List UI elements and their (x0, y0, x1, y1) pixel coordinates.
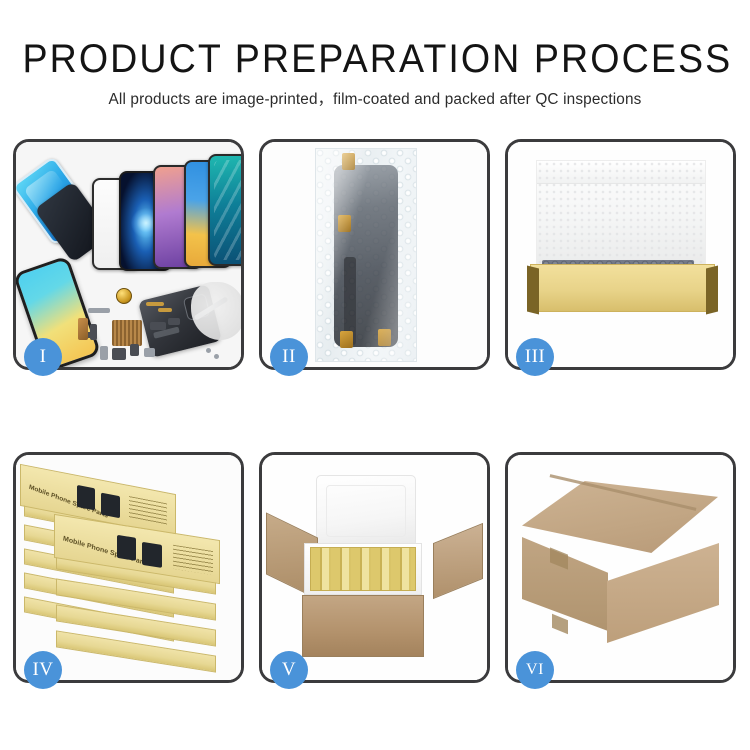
scene-bubble-wrap (262, 142, 487, 367)
panel-badge-4: IV (24, 651, 62, 689)
panel-carton-packing: V (259, 452, 490, 683)
box-label-screen-img-back-2 (101, 493, 120, 519)
carton-tape-lower (552, 614, 568, 634)
box-label-spec-lines-back (129, 496, 167, 525)
panel-bubble-wrap: II (259, 139, 490, 370)
spare-part-sim-tray (144, 348, 155, 357)
scene-box-stack: Mobile Phone Spare Parts Mobile Phone Sp… (16, 455, 241, 680)
panel-image-carton-packing (262, 455, 487, 680)
spare-part-connector-4 (168, 318, 180, 325)
flex-connector-tab-mid (338, 215, 351, 232)
box-label-screen-img-front-2 (142, 542, 162, 568)
spare-part-camera (100, 346, 108, 360)
spare-part-screw-1 (206, 348, 211, 353)
spare-part-button (130, 344, 139, 356)
scene-carton-packing (262, 455, 487, 680)
spare-part-flex-cable (78, 318, 88, 340)
carton-front-panel (302, 595, 424, 657)
kraft-box-open (530, 264, 715, 312)
panel-image-foam-box (508, 142, 733, 367)
panel-image-product-overview (16, 142, 241, 367)
scene-product-overview (16, 142, 241, 367)
spare-part-speaker (112, 348, 126, 360)
panel-badge-3: III (516, 338, 554, 376)
header: PRODUCT PREPARATION PROCESS All products… (0, 36, 750, 111)
product-preparation-infographic: PRODUCT PREPARATION PROCESS All products… (0, 0, 750, 750)
spare-part-screw-2 (214, 354, 219, 359)
vibration-motor-part (116, 288, 132, 304)
panel-box-stack: Mobile Phone Spare Parts Mobile Phone Sp… (13, 452, 244, 683)
panel-sealed-carton: VI (505, 452, 736, 683)
spare-part-strip-1 (88, 308, 110, 313)
flex-connector-tab-bottom-left (340, 331, 353, 348)
flex-connector-tab-top (342, 153, 355, 170)
flex-connector-tab-bottom-right (378, 329, 391, 346)
box-label-spec-lines-front (173, 545, 213, 575)
panel-badge-1: I (24, 338, 62, 376)
box-label-screen-img-front-1 (117, 535, 136, 561)
foam-lid-open (316, 475, 416, 547)
carton-left-face (522, 537, 608, 631)
panel-product-overview: I (13, 139, 244, 370)
spare-part-ic-grid (112, 320, 142, 346)
spare-part-flex-gold-2 (158, 308, 172, 312)
carton-flap-right (433, 523, 483, 599)
page-subtitle: All products are image-printed，film-coat… (4, 89, 747, 111)
page-title: PRODUCT PREPARATION PROCESS (23, 36, 728, 82)
panel-image-bubble-wrap (262, 142, 487, 367)
bubble-wrap-bag (315, 148, 417, 362)
foam-sheet-inside-box (536, 160, 706, 270)
panel-image-sealed-carton (508, 455, 733, 680)
panel-grid: I II (13, 139, 737, 683)
spare-part-connector-3 (150, 322, 166, 330)
yellow-boxes-inside (310, 547, 416, 591)
box-label-screen-img-back-1 (77, 485, 95, 510)
panel-badge-2: II (270, 338, 308, 376)
spare-part-flex-gold (146, 302, 164, 306)
panel-foam-box: III (505, 139, 736, 370)
panel-badge-5: V (270, 651, 308, 689)
carton-right-face (607, 543, 719, 643)
panel-image-box-stack: Mobile Phone Spare Parts Mobile Phone Sp… (16, 455, 241, 680)
wrapped-screen-assembly (334, 165, 398, 347)
phone-screen-teal (208, 154, 241, 266)
panel-badge-6: VI (516, 651, 554, 689)
scene-foam-box (508, 142, 733, 367)
scene-sealed-carton (508, 455, 733, 680)
